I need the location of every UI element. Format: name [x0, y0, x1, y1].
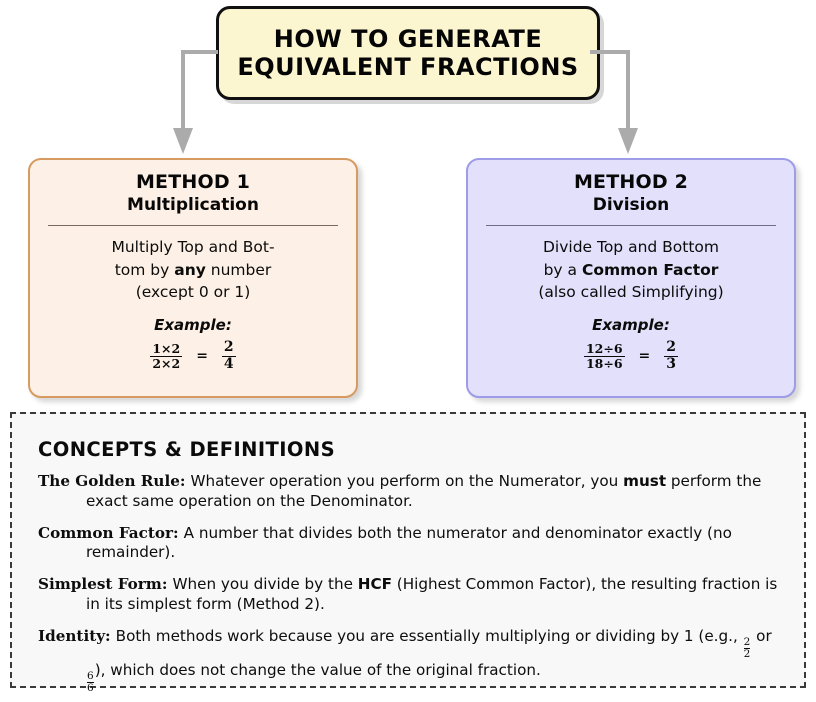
title-line-2: EQUIVALENT FRACTIONS — [237, 53, 578, 81]
method-1-fraction-left-denominator: 2×2 — [150, 356, 182, 371]
method-2-fraction-right: 2 3 — [664, 340, 678, 372]
method-2-equals-sign: = — [639, 348, 651, 364]
concepts-definitions-panel: CONCEPTS & DEFINITIONS The Golden Rule:W… — [10, 412, 806, 688]
title-line-1: HOW TO GENERATE — [274, 25, 542, 53]
method-1-equals-sign: = — [196, 348, 208, 364]
method-1-fraction-left-numerator: 1×2 — [150, 342, 182, 356]
definition-simplest-form-text-pre: When you divide by the — [172, 575, 357, 593]
method-1-example-equation: 1×2 2×2 = 2 4 — [46, 340, 340, 372]
definition-identity: Identity:Both methods work because you a… — [38, 627, 778, 695]
method-1-divider — [48, 225, 338, 226]
definition-golden-rule-term: The Golden Rule: — [38, 472, 190, 490]
definition-golden-rule-emphasis: must — [623, 472, 666, 490]
definition-identity-fraction-1: 22 — [744, 637, 751, 661]
definition-identity-fraction-2-numerator: 6 — [87, 671, 94, 682]
method-1-title: METHOD 1 — [46, 171, 340, 194]
method-2-desc-line-2-pre: by a — [544, 261, 582, 279]
method-1-desc-emphasis: any — [174, 261, 206, 279]
concepts-heading: CONCEPTS & DEFINITIONS — [38, 438, 778, 461]
method-2-desc-line-3: (also called Simplifying) — [538, 283, 723, 301]
method-2-example-equation: 12÷6 18÷6 = 2 3 — [484, 340, 778, 372]
definition-identity-fraction-1-numerator: 2 — [744, 637, 751, 648]
method-2-desc-emphasis: Common Factor — [582, 261, 718, 279]
definition-common-factor-text: A number that divides both the numerator… — [86, 524, 732, 562]
definition-common-factor-term: Common Factor: — [38, 524, 184, 542]
method-1-desc-line-2-pre: tom by — [115, 261, 175, 279]
definition-identity-text-post: ), which does not change the value of th… — [95, 661, 541, 679]
method-1-subtitle: Multiplication — [46, 195, 340, 216]
method-2-subtitle: Division — [484, 195, 778, 216]
definition-simplest-form-emphasis: HCF — [358, 575, 392, 593]
method-1-desc-line-1: Multiply Top and Bot- — [111, 238, 274, 256]
definition-identity-conjunction: or — [751, 627, 771, 645]
title-box: HOW TO GENERATE EQUIVALENT FRACTIONS — [216, 6, 600, 100]
method-1-fraction-right-denominator: 4 — [222, 356, 236, 373]
definition-identity-text-pre: Both methods work because you are essent… — [116, 627, 743, 645]
method-2-divider — [486, 225, 776, 226]
method-1-example-label: Example: — [46, 316, 340, 334]
definition-common-factor: Common Factor:A number that divides both… — [38, 524, 778, 564]
method-2-fraction-right-numerator: 2 — [664, 340, 678, 356]
connector-left-arrow — [170, 46, 250, 160]
method-1-fraction-left: 1×2 2×2 — [150, 342, 182, 371]
method-2-card: METHOD 2 Division Divide Top and Bottom … — [466, 158, 796, 398]
method-2-title: METHOD 2 — [484, 171, 778, 194]
definition-simplest-form-text: When you divide by the HCF (Highest Comm… — [86, 575, 777, 613]
definition-identity-term: Identity: — [38, 627, 116, 645]
definition-identity-fraction-1-denominator: 2 — [744, 648, 751, 660]
definition-identity-text: Both methods work because you are essent… — [86, 627, 772, 679]
method-2-fraction-right-denominator: 3 — [664, 356, 678, 373]
definition-identity-fraction-2: 66 — [87, 671, 94, 695]
method-2-fraction-left-numerator: 12÷6 — [584, 342, 625, 356]
method-1-card: METHOD 1 Multiplication Multiply Top and… — [28, 158, 358, 398]
definition-simplest-form: Simplest Form:When you divide by the HCF… — [38, 575, 778, 615]
method-1-fraction-right-numerator: 2 — [222, 340, 236, 356]
definition-golden-rule-text-pre: Whatever operation you perform on the Nu… — [190, 472, 623, 490]
method-2-example-label: Example: — [484, 316, 778, 334]
method-2-description: Divide Top and Bottom by a Common Factor… — [484, 236, 778, 303]
method-1-description: Multiply Top and Bot- tom by any number … — [46, 236, 340, 303]
method-1-desc-line-2-post: number — [206, 261, 271, 279]
method-2-fraction-left-denominator: 18÷6 — [584, 356, 625, 371]
method-2-fraction-left: 12÷6 18÷6 — [584, 342, 625, 371]
definition-golden-rule: The Golden Rule:Whatever operation you p… — [38, 472, 778, 512]
method-1-fraction-right: 2 4 — [222, 340, 236, 372]
definition-identity-fraction-2-denominator: 6 — [87, 682, 94, 694]
connector-right-arrow — [566, 46, 666, 160]
method-1-desc-line-3: (except 0 or 1) — [136, 283, 251, 301]
method-2-desc-line-1: Divide Top and Bottom — [543, 238, 719, 256]
definition-simplest-form-term: Simplest Form: — [38, 575, 172, 593]
